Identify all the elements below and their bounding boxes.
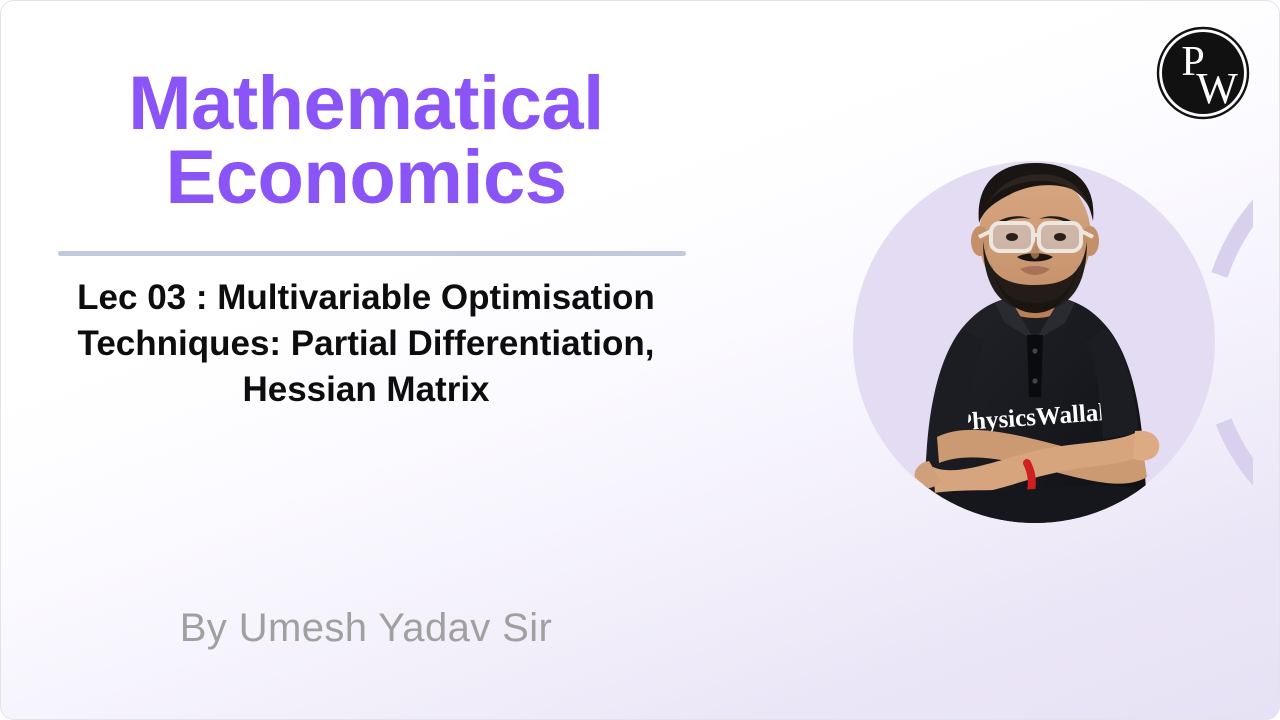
pw-logo-letter-w: W: [1196, 64, 1238, 113]
lecture-title: Lec 03 : Multivariable Optimisation Tech…: [1, 275, 731, 413]
presenter-byline: By Umesh Yadav Sir: [1, 606, 731, 651]
instructor-photo: PhysicsWallah: [859, 145, 1211, 615]
pw-logo-icon: P W: [1149, 19, 1257, 127]
red-thread-bracelet: [1027, 463, 1032, 491]
lecture-title-slide: Mathematical Economics Lec 03 : Multivar…: [0, 0, 1280, 720]
title-divider: [58, 251, 686, 256]
course-title: Mathematical Economics: [1, 67, 731, 214]
instructor-portrait-stage: PhysicsWallah: [813, 121, 1253, 621]
text-column: Mathematical Economics Lec 03 : Multivar…: [1, 1, 731, 720]
